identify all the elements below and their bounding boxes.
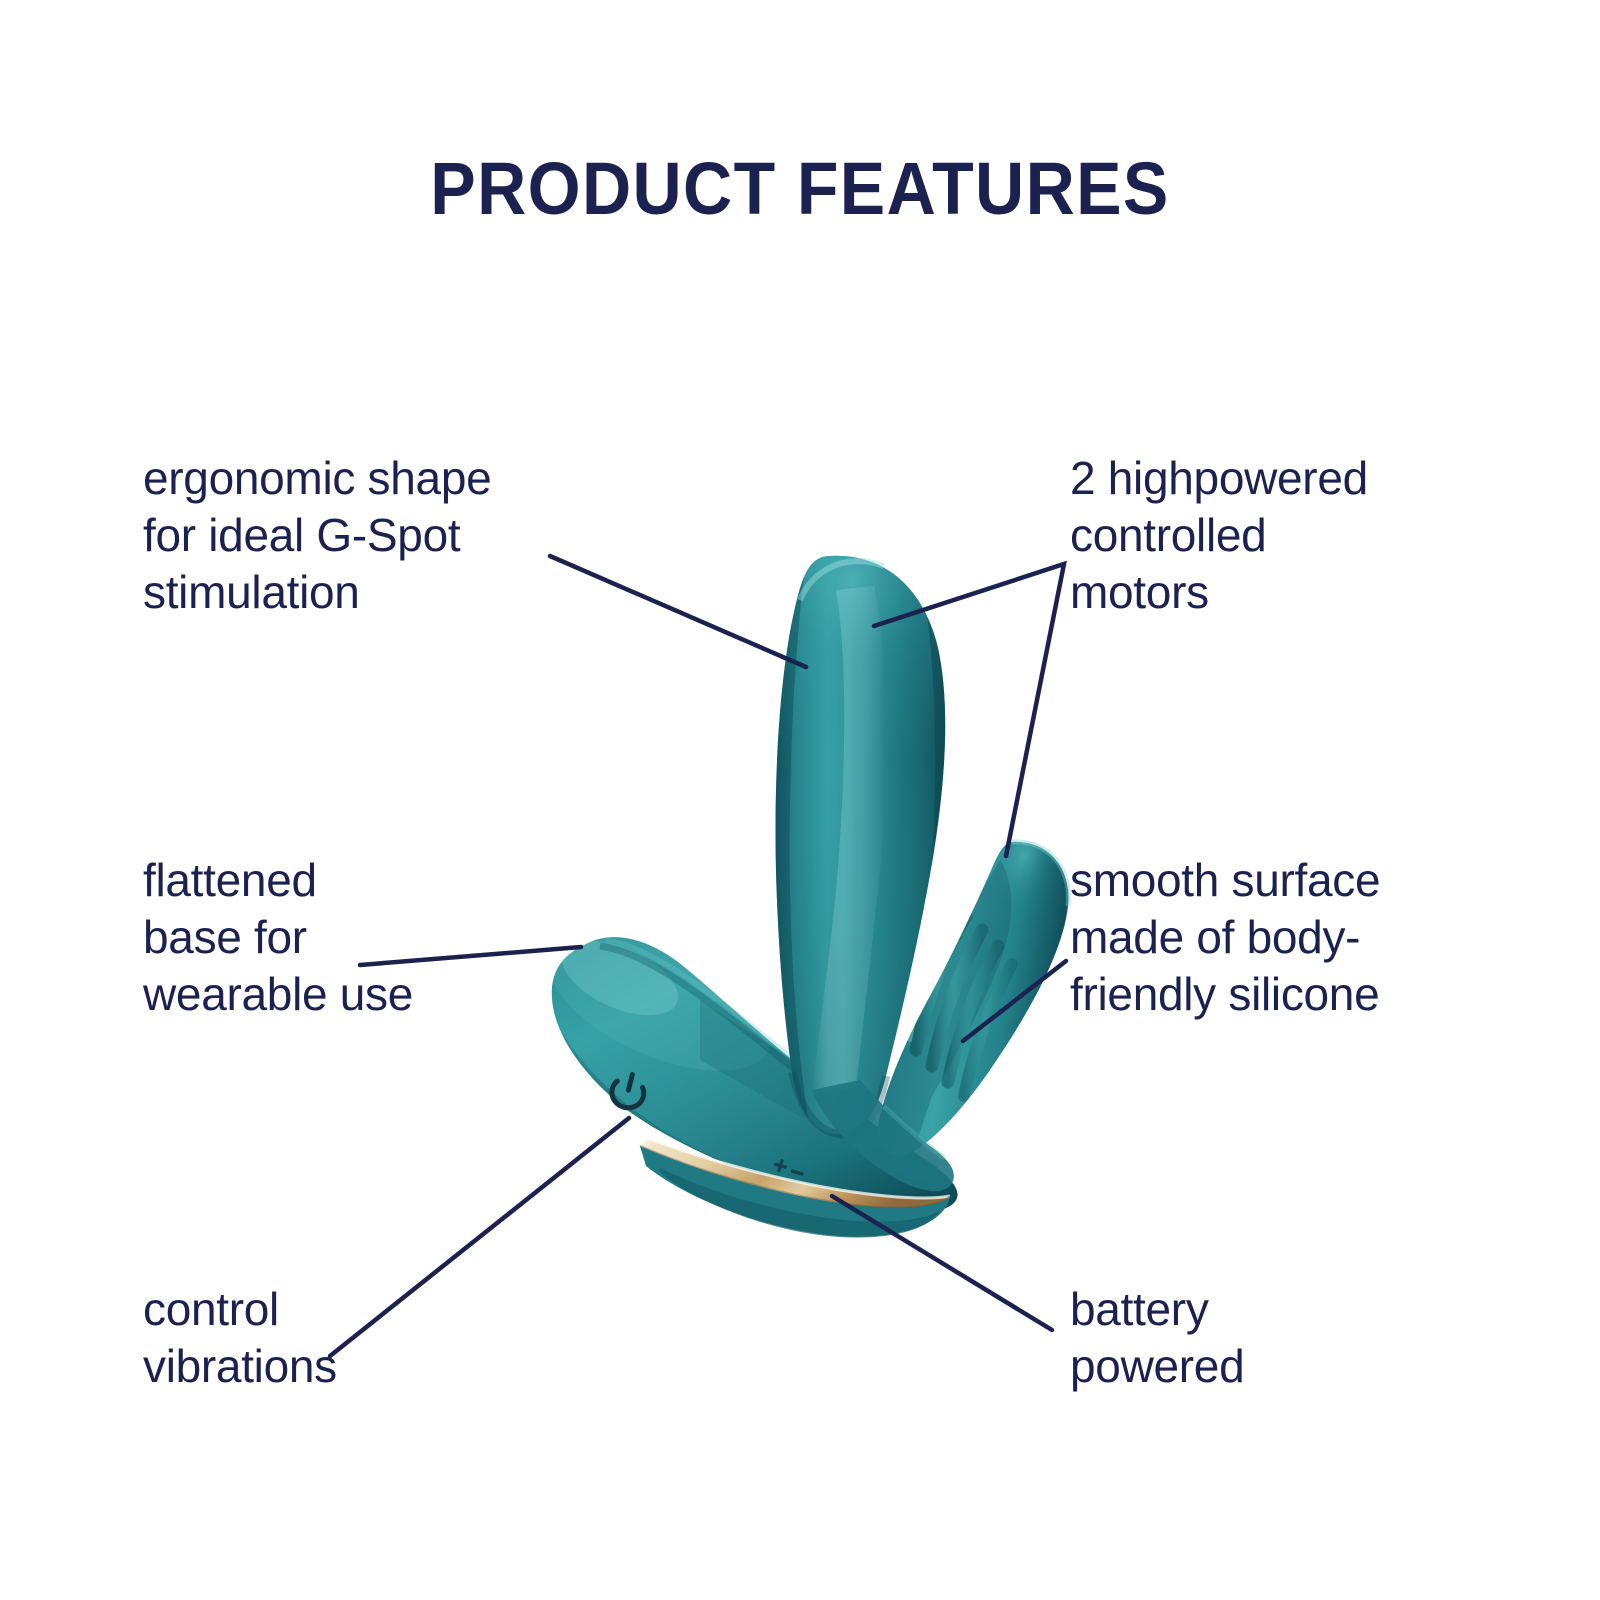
product-features-infographic: PRODUCT FEATURES xyxy=(0,0,1600,1600)
callout-highpowered-motors: 2 highpowered controlled motors xyxy=(1070,450,1500,621)
callout-ergonomic-shape: ergonomic shape for ideal G-Spot stimula… xyxy=(143,450,603,621)
callout-battery-powered: battery powered xyxy=(1070,1281,1470,1395)
callout-control-vibrations: control vibrations xyxy=(143,1281,543,1395)
callout-flattened-base: flattened base for wearable use xyxy=(143,852,573,1023)
callout-smooth-surface: smooth surface made of body- friendly si… xyxy=(1070,852,1510,1023)
